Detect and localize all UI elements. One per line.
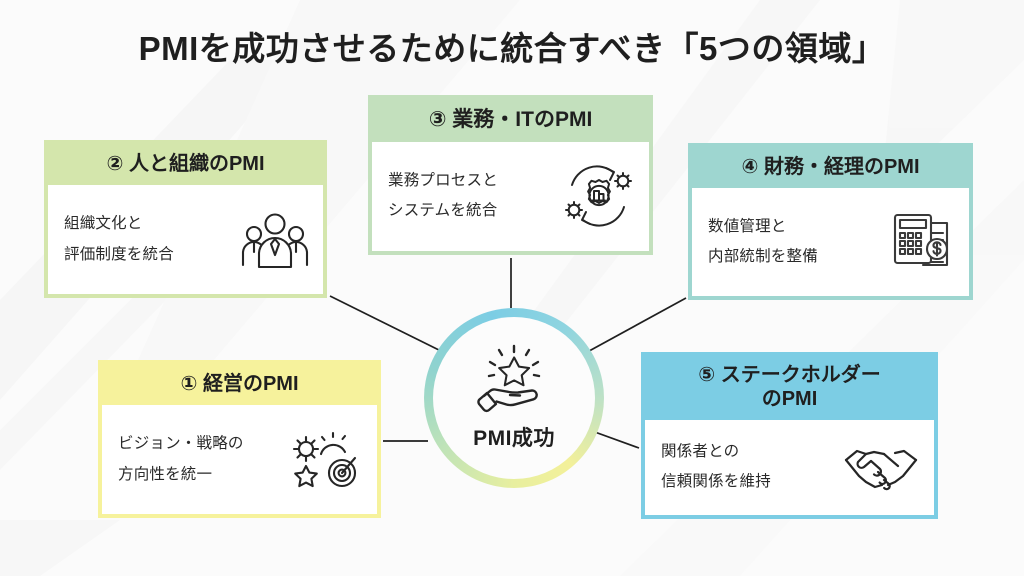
card-5-header: ⑤ ステークホルダー のPMI [645, 356, 934, 420]
card-4-body: 数値管理と 内部統制を整備 [692, 188, 969, 296]
connector-card2 [330, 296, 449, 355]
page-title: PMIを成功させるために統合すべき「5つの領域」 [0, 22, 1024, 70]
card-1-text: ビジョン・戦略の 方向性を統一 [118, 429, 244, 489]
hub-inner: PMI成功 [433, 317, 595, 479]
handshake-icon [842, 438, 920, 496]
card-4-text: 数値管理と 内部統制を整備 [708, 212, 818, 272]
people-group-icon [241, 209, 309, 271]
card-2-text: 組織文化と 評価制度を統合 [64, 209, 174, 269]
gears-building-process-icon [561, 162, 635, 230]
card-3-text: 業務プロセスと システムを統合 [388, 166, 498, 226]
calculator-money-document-icon [887, 209, 955, 275]
card-5-body: 関係者との 信頼関係を維持 [645, 420, 934, 515]
hub-pmi-success[interactable]: PMI成功 [424, 308, 604, 488]
card-5-text: 関係者との 信頼関係を維持 [661, 437, 771, 497]
card-1-body: ビジョン・戦略の 方向性を統一 [102, 405, 377, 514]
card-stakeholder-pmi[interactable]: ⑤ ステークホルダー のPMI 関係者との 信頼関係を維持 [641, 352, 938, 519]
hub-label: PMI成功 [473, 422, 555, 452]
hand-holding-star-icon [472, 344, 556, 421]
card-4-header: ④ 財務・経理のPMI [692, 147, 969, 188]
card-finance-accounting-pmi[interactable]: ④ 財務・経理のPMI 数値管理と 内部統制を整備 [688, 143, 973, 300]
card-management-pmi[interactable]: ① 経営のPMI ビジョン・戦略の 方向性を統一 [98, 360, 381, 518]
card-3-body: 業務プロセスと システムを統合 [372, 142, 649, 251]
card-3-header: ③ 業務・ITのPMI [372, 99, 649, 142]
gear-star-target-icon [289, 428, 363, 492]
connector-card4 [580, 298, 686, 356]
card-2-header: ② 人と組織のPMI [48, 144, 323, 185]
card-people-org-pmi[interactable]: ② 人と組織のPMI 組織文化と 評価制度を統合 [44, 140, 327, 298]
card-2-body: 組織文化と 評価制度を統合 [48, 185, 323, 294]
card-operations-it-pmi[interactable]: ③ 業務・ITのPMI 業務プロセスと システムを統合 [368, 95, 653, 255]
card-1-header: ① 経営のPMI [102, 364, 377, 405]
